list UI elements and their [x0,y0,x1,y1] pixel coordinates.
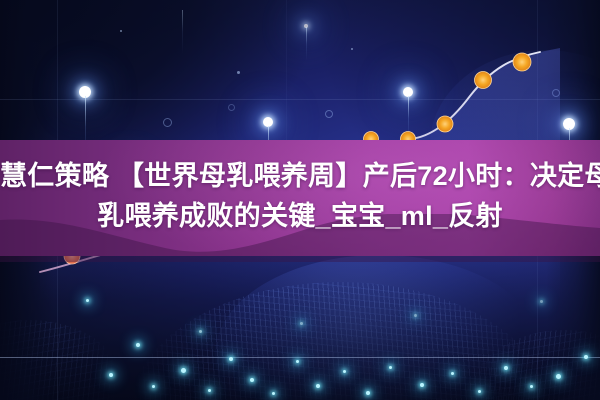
data-point [437,116,453,132]
data-point [513,53,531,71]
page-title-line-2: 乳喂养成败的关键_宝宝_ml_反射 [0,196,600,236]
data-point [475,72,492,89]
page-title-line-1: 慧仁策略 【世界母乳喂养周】产后72小时：决定母 [0,156,600,196]
thumbnail-canvas: 慧仁策略 【世界母乳喂养周】产后72小时：决定母 乳喂养成败的关键_宝宝_ml_… [0,0,600,400]
banner-bottom-edge [0,244,600,266]
